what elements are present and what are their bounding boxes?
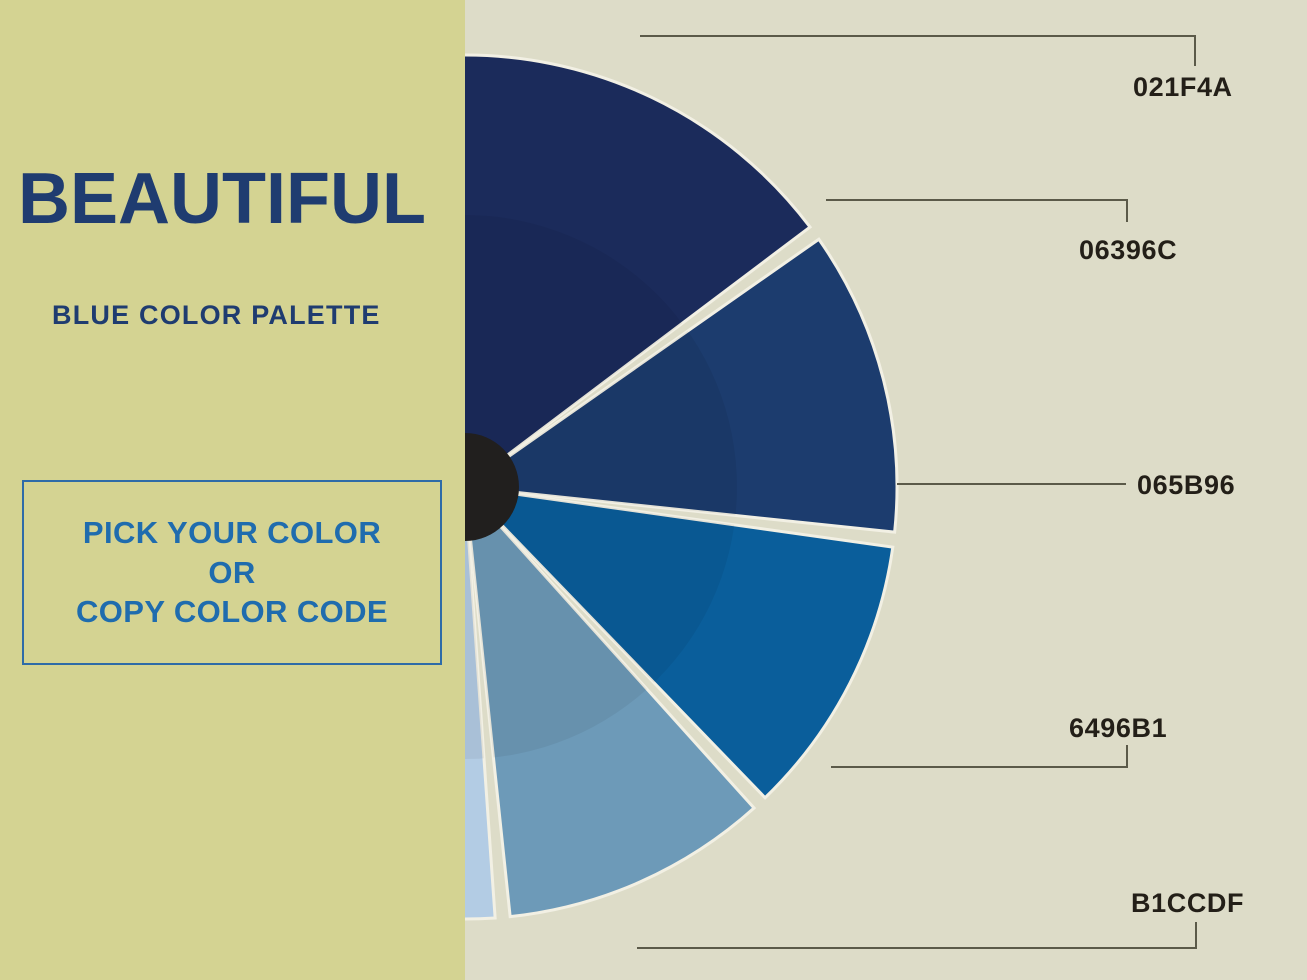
cta-line-3: COPY COLOR CODE bbox=[76, 592, 388, 632]
color-code-b1ccdf[interactable]: B1CCDF bbox=[1131, 888, 1244, 919]
cta-line-1: PICK YOUR COLOR bbox=[83, 513, 381, 553]
color-code-06396c[interactable]: 06396C bbox=[1079, 235, 1177, 266]
color-code-6496b1[interactable]: 6496B1 bbox=[1069, 713, 1167, 744]
color-code-065b96[interactable]: 065B96 bbox=[1137, 470, 1235, 501]
cta-line-2: OR bbox=[208, 553, 255, 593]
color-code-021f4a[interactable]: 021F4A bbox=[1133, 72, 1233, 103]
cta-box[interactable]: PICK YOUR COLOR OR COPY COLOR CODE bbox=[22, 480, 442, 665]
color-palette-infographic: BEAUTIFUL BLUE COLOR PALETTE PICK YOUR C… bbox=[0, 0, 1307, 980]
page-subtitle: BLUE COLOR PALETTE bbox=[52, 300, 381, 331]
page-title: BEAUTIFUL bbox=[18, 163, 458, 235]
left-panel: BEAUTIFUL BLUE COLOR PALETTE PICK YOUR C… bbox=[0, 0, 465, 980]
